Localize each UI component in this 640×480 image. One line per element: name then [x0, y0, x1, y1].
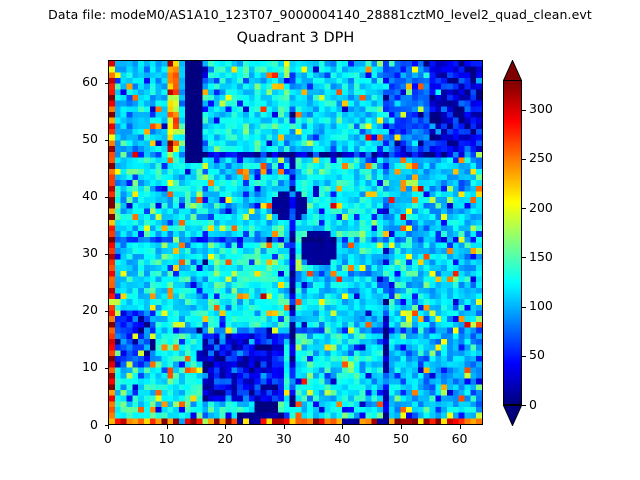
y-tick-mark	[105, 83, 109, 84]
y-tick-mark	[105, 425, 109, 426]
x-tick-mark	[401, 425, 402, 429]
detector-heatmap-image[interactable]	[109, 61, 482, 424]
colorbar-tick-mark	[522, 405, 526, 406]
x-tick-label: 30	[254, 431, 314, 446]
heatmap-axes[interactable]	[108, 60, 483, 425]
y-tick-mark	[105, 140, 109, 141]
colorbar-tick-mark	[522, 356, 526, 357]
x-tick-label: 10	[137, 431, 197, 446]
x-tick-mark	[284, 425, 285, 429]
x-tick-mark	[460, 425, 461, 429]
colorbar-tick-label: 300	[529, 101, 553, 116]
colorbar-tick-label: 250	[529, 150, 553, 165]
y-tick-mark	[105, 311, 109, 312]
data-file-suptitle: Data file: modeM0/AS1A10_123T07_90000041…	[0, 7, 640, 22]
x-tick-mark	[342, 425, 343, 429]
colorbar-tick-mark	[522, 257, 526, 258]
matplotlib-figure: Data file: modeM0/AS1A10_123T07_90000041…	[0, 0, 640, 480]
x-tick-label: 40	[312, 431, 372, 446]
colorbar-tick-label: 100	[529, 298, 553, 313]
x-tick-label: 0	[78, 431, 138, 446]
y-tick-mark	[105, 197, 109, 198]
x-tick-label: 50	[371, 431, 431, 446]
y-tick-label: 30	[38, 245, 98, 260]
colorbar-tick-label: 150	[529, 249, 553, 264]
plot-title: Quadrant 3 DPH	[108, 30, 483, 46]
y-tick-label: 20	[38, 302, 98, 317]
y-tick-label: 40	[38, 188, 98, 203]
colorbar-gradient	[504, 81, 521, 404]
y-tick-label: 10	[38, 359, 98, 374]
y-tick-label: 50	[38, 131, 98, 146]
x-tick-label: 20	[195, 431, 255, 446]
colorbar-tick-mark	[522, 208, 526, 209]
y-tick-label: 60	[38, 74, 98, 89]
colorbar-tick-label: 200	[529, 200, 553, 215]
x-tick-label: 60	[430, 431, 490, 446]
x-tick-mark	[225, 425, 226, 429]
y-tick-mark	[105, 254, 109, 255]
y-tick-label: 0	[38, 417, 98, 432]
colorbar-tick-mark	[522, 159, 526, 160]
colorbar-extend-min-arrow	[503, 405, 522, 425]
colorbar[interactable]	[503, 60, 522, 425]
colorbar-extend-max-arrow	[503, 60, 522, 80]
colorbar-tick-label: 0	[529, 397, 537, 412]
colorbar-tick-mark	[522, 110, 526, 111]
x-tick-mark	[108, 425, 109, 429]
colorbar-tick-mark	[522, 307, 526, 308]
colorbar-tick-label: 50	[529, 347, 545, 362]
colorbar-gradient-body[interactable]	[503, 80, 522, 405]
y-tick-mark	[105, 368, 109, 369]
x-tick-mark	[167, 425, 168, 429]
